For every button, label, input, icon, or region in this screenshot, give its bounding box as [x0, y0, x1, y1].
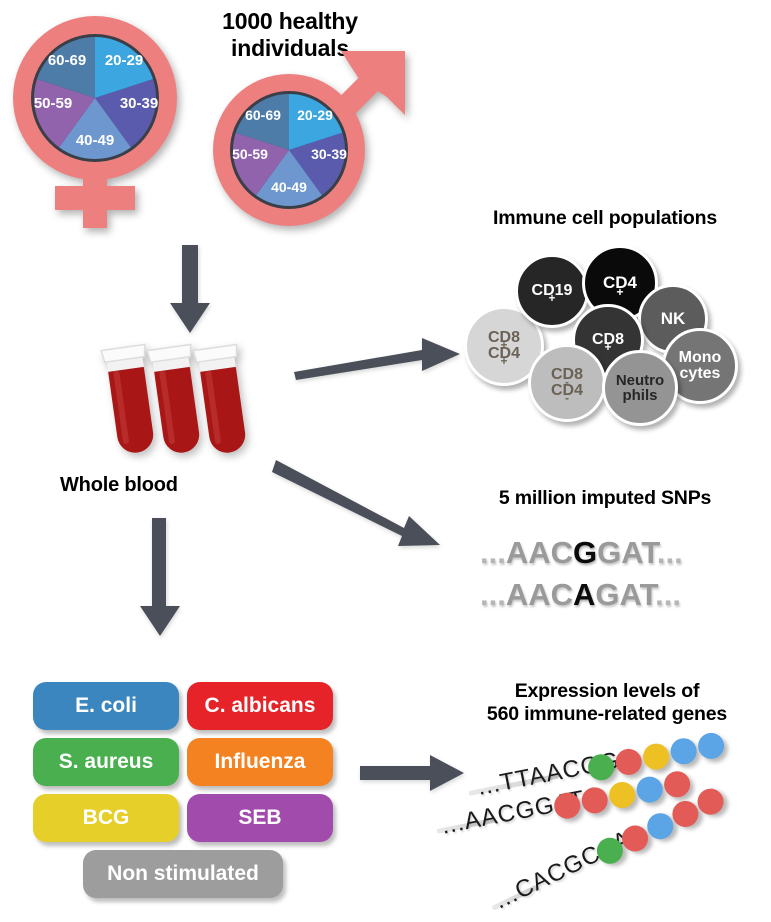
stimulus-influenza[interactable]: Influenza [187, 738, 333, 786]
female-gender-symbol: 20-29 30-39 40-49 50-59 60-69 [5, 10, 205, 235]
stimulus-label: Non stimulated [107, 862, 259, 886]
snp-right: GAT [595, 577, 655, 612]
pie-label-20-29: 20-29 [105, 52, 143, 69]
snp-row: ...AACGGAT... [480, 535, 750, 571]
stimuli-panel: E. coli C. albicans S. aureus Influenza … [33, 682, 333, 898]
pie-label-50-59: 50-59 [34, 95, 72, 112]
expression-bead [641, 741, 671, 771]
expression-bead [662, 769, 692, 799]
snp-right: GAT [597, 535, 657, 570]
cell-label-line1: Mono [679, 350, 722, 366]
snp-left: AAC [506, 535, 573, 570]
study-design-diagram: 1000 healthy individuals 20-29 30-39 40-… [0, 0, 771, 922]
cell-label-line1: CD8- [551, 367, 583, 383]
snp-suffix: ... [657, 535, 683, 570]
expression-bead [607, 780, 637, 810]
cell-label-line2: phils [622, 388, 657, 403]
pie-label-60-69: 60-69 [48, 52, 86, 69]
snp-prefix: ... [480, 535, 506, 570]
expression-title-line2: 560 immune-related genes [452, 703, 762, 726]
cell-neutrophils[interactable]: Neutro phils [602, 350, 678, 426]
snp-row: ...AACAGAT... [480, 577, 750, 613]
cell-label-line2: cytes [680, 366, 721, 382]
pie-label-60-69: 60-69 [245, 107, 281, 123]
expression-title-line1: Expression levels of [452, 680, 762, 703]
stimulus-label: E. coli [75, 694, 137, 718]
pie-label-40-49: 40-49 [76, 132, 114, 149]
stimuli-to-expression-arrow [358, 755, 468, 795]
cell-label: CD19+ [532, 283, 573, 299]
pie-label-50-59: 50-59 [232, 146, 268, 162]
whole-blood-tubes [95, 335, 275, 475]
cell-label: CD4+ [603, 274, 637, 292]
cell-label-line1: Neutro [616, 373, 664, 388]
cohort-to-blood-arrow [160, 245, 220, 335]
stimulus-bcg[interactable]: BCG [33, 794, 179, 842]
stimulus-s-aureus[interactable]: S. aureus [33, 738, 179, 786]
snp-suffix: ... [655, 577, 681, 612]
cell-cd19pos[interactable]: CD19+ [515, 254, 589, 328]
pie-label-30-39: 30-39 [120, 95, 158, 112]
pie-label-20-29: 20-29 [297, 107, 333, 123]
stimulus-c-albicans[interactable]: C. albicans [187, 682, 333, 730]
stimulus-label: C. albicans [205, 694, 316, 718]
expression-bead [668, 736, 698, 766]
snps-title: 5 million imputed SNPs [440, 487, 770, 510]
pie-label-40-49: 40-49 [271, 179, 307, 195]
stimulus-label: S. aureus [59, 750, 154, 774]
snp-sequences: ...AACGGAT... ...AACAGAT... [480, 535, 750, 613]
blood-to-snps-arrow [272, 450, 447, 555]
snp-left: AAC [506, 577, 573, 612]
cell-label: NK [661, 310, 686, 328]
stimulus-label: BCG [83, 806, 130, 830]
blood-to-immune-arrow [290, 330, 465, 380]
expression-bead [696, 731, 726, 761]
pie-label-30-39: 30-39 [311, 146, 347, 162]
immune-cell-cluster: CD8+ CD4+ CD19+ CD4+ NK CD8+ Mono cytes … [460, 240, 760, 430]
expression-bead [634, 774, 664, 804]
cohort-title-line1: 1000 healthy [175, 8, 405, 35]
snp-variant: G [573, 535, 597, 570]
cell-label-line2: CD4- [551, 383, 583, 399]
cell-label-line2: CD4+ [488, 346, 520, 362]
blood-to-stimuli-arrow [130, 518, 190, 638]
male-gender-symbol: 20-29 30-39 40-49 50-59 60-69 [205, 40, 420, 240]
stimulus-label: Influenza [214, 750, 305, 774]
snp-variant: A [573, 577, 595, 612]
stimulus-label: SEB [238, 806, 281, 830]
immune-title: Immune cell populations [440, 207, 770, 230]
cell-label: CD8+ [592, 332, 624, 348]
expression-title: Expression levels of 560 immune-related … [452, 680, 762, 726]
stimulus-non-stimulated[interactable]: Non stimulated [83, 850, 283, 898]
cell-label-line1: CD8+ [488, 330, 520, 346]
stimulus-seb[interactable]: SEB [187, 794, 333, 842]
expression-strands: ...TTAACGG ...AACGGAT ...CACGCAA [455, 735, 771, 915]
whole-blood-label: Whole blood [60, 474, 260, 498]
cell-cd8neg-cd4neg[interactable]: CD8- CD4- [528, 344, 606, 422]
snp-prefix: ... [480, 577, 506, 612]
blood-tube [193, 345, 251, 456]
stimulus-e-coli[interactable]: E. coli [33, 682, 179, 730]
